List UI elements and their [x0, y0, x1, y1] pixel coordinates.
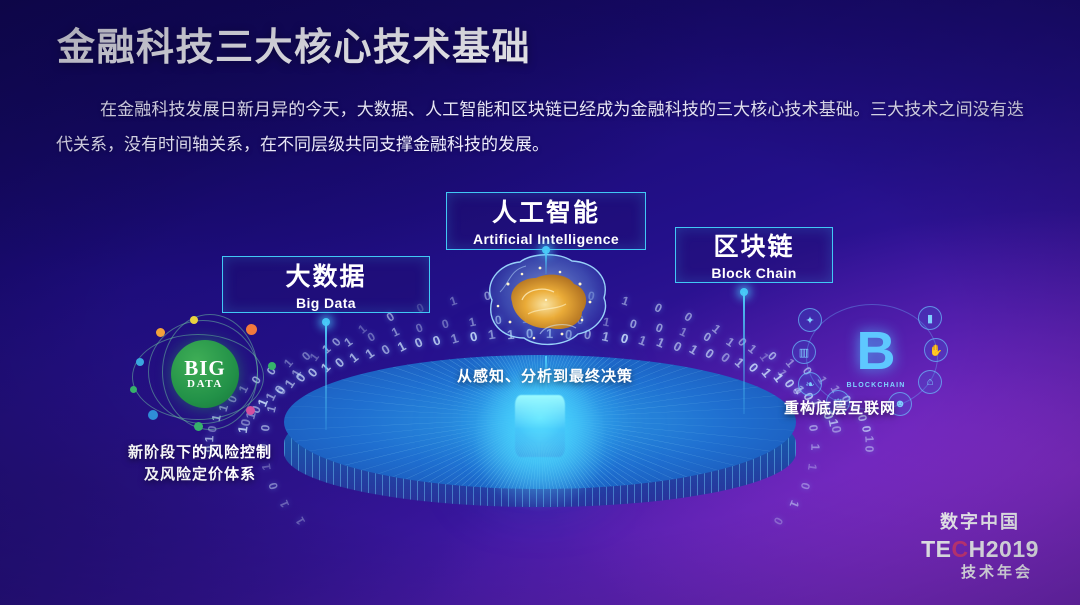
binary-digit: 1 [678, 324, 690, 340]
bigdata-node-yellow [190, 316, 198, 324]
card-ai[interactable]: 人工智能 Artificial Intelligence [446, 192, 646, 250]
binary-digit: 0 [413, 335, 426, 352]
card-big-data-title-en: Big Data [223, 295, 429, 311]
bigdata-node-orange [156, 328, 165, 337]
logo-tech-tail: H [969, 536, 986, 562]
binary-digit: 1 [341, 335, 355, 350]
connector-line-block-chain [743, 292, 745, 414]
event-logo: 数字中国 TECH2019 技术年会 [900, 508, 1060, 582]
binary-digit: 1 [654, 335, 667, 352]
blockchain-b-symbol: B [848, 320, 904, 384]
logo-tech: TE [921, 536, 951, 562]
blockchain-icon-bank: ▥ [792, 340, 816, 364]
bigdata-node-blue [136, 358, 144, 366]
binary-digit: 0 [653, 320, 664, 335]
logo-year: 2019 [986, 536, 1039, 562]
slide-canvas: 金融科技三大核心技术基础 在金融科技发展日新月异的今天，大数据、人工智能和区块链… [0, 0, 1080, 605]
binary-digit: 0 [414, 320, 425, 335]
caption-big-data-line1: 新阶段下的风险控制 [100, 442, 300, 464]
connector-line-ai [545, 250, 547, 274]
binary-digit: 1 [449, 330, 460, 346]
card-big-data-title-cn: 大数据 [223, 264, 429, 291]
binary-digit: 1 [805, 462, 820, 471]
bigdata-node-blue2 [148, 410, 158, 420]
card-big-data[interactable]: 大数据 Big Data [222, 256, 430, 313]
logo-tech-accent: C [951, 536, 968, 562]
caption-big-data-line2: 及风险定价体系 [100, 464, 300, 486]
binary-digit: 1 [710, 321, 724, 336]
binary-digit: 0 [682, 309, 695, 324]
big-data-badge-line2: DATA [187, 378, 223, 390]
intro-paragraph: 在金融科技发展日新月异的今天，大数据、人工智能和区块链已经成为金融科技的三大核心… [56, 92, 1024, 162]
binary-digit: 0 [440, 317, 450, 332]
connector-line-big-data [325, 322, 327, 430]
caption-block-chain: 重构底层互联网 [740, 398, 940, 420]
binary-digit: 1 [448, 293, 459, 308]
bigdata-node-pink [246, 406, 255, 415]
bigdata-node-red [246, 324, 257, 335]
card-block-chain-title-cn: 区块链 [676, 234, 832, 261]
binary-digit: 0 [652, 300, 664, 316]
binary-digit: 0 [329, 335, 344, 349]
binary-digit: 0 [798, 480, 813, 490]
caption-ai: 从感知、分析到最终决策 [430, 366, 660, 388]
blockchain-icon-cluster: ✦ ▥ ❧ ⚖ ▮ ✋ ⌂ ☻ B BLOCKCHAIN [792, 302, 952, 412]
blockchain-icon-network: ✦ [798, 308, 822, 332]
page-title: 金融科技三大核心技术基础 [57, 16, 531, 71]
card-ai-title-cn: 人工智能 [447, 200, 645, 227]
blockchain-icon-chart: ▮ [918, 306, 942, 330]
binary-digit: 0 [859, 424, 874, 432]
binary-digit: 1 [395, 338, 408, 355]
bigdata-node-green [268, 362, 276, 370]
blockchain-label: BLOCKCHAIN [830, 382, 922, 389]
card-block-chain-title-en: Block Chain [676, 265, 832, 281]
binary-digit: 0 [701, 329, 714, 344]
binary-digit: 1 [355, 321, 369, 336]
blockchain-icon-leaf: ❧ [798, 372, 822, 396]
big-data-badge-line1: BIG [184, 358, 226, 378]
big-data-badge: BIG DATA [171, 340, 239, 408]
binary-digit: 0 [829, 425, 845, 434]
binary-digit: 1 [808, 444, 822, 451]
binary-digit: 0 [365, 329, 378, 344]
binary-digit: 0 [806, 424, 821, 432]
binary-digit: 0 [862, 446, 876, 453]
binary-digit: 1 [862, 435, 876, 442]
binary-digit: 0 [628, 317, 638, 332]
caption-big-data: 新阶段下的风险控制 及风险定价体系 [100, 442, 300, 486]
bigdata-node-green3 [130, 386, 137, 393]
card-block-chain[interactable]: 区块链 Block Chain [675, 227, 833, 283]
logo-tech-year: TECH2019 [900, 536, 1060, 563]
binary-digit: 0 [671, 338, 684, 355]
logo-line-1: 数字中国 [900, 508, 1060, 534]
binary-digit: 1 [389, 324, 401, 340]
blockchain-icon-hand: ✋ [924, 338, 948, 362]
bigdata-node-green2 [194, 422, 203, 431]
binary-digit: 1 [745, 341, 759, 356]
card-ai-title-en: Artificial Intelligence [447, 231, 645, 247]
binary-digit: 0 [619, 330, 630, 346]
binary-digit: 1 [620, 293, 631, 308]
binary-digit: 0 [431, 332, 443, 349]
binary-digit: 1 [724, 335, 738, 350]
binary-digit: 1 [636, 332, 648, 349]
logo-line-3: 技术年会 [900, 561, 1060, 582]
disc-core-pillar [515, 395, 565, 457]
big-data-icon-cluster: BIG DATA [128, 314, 294, 434]
